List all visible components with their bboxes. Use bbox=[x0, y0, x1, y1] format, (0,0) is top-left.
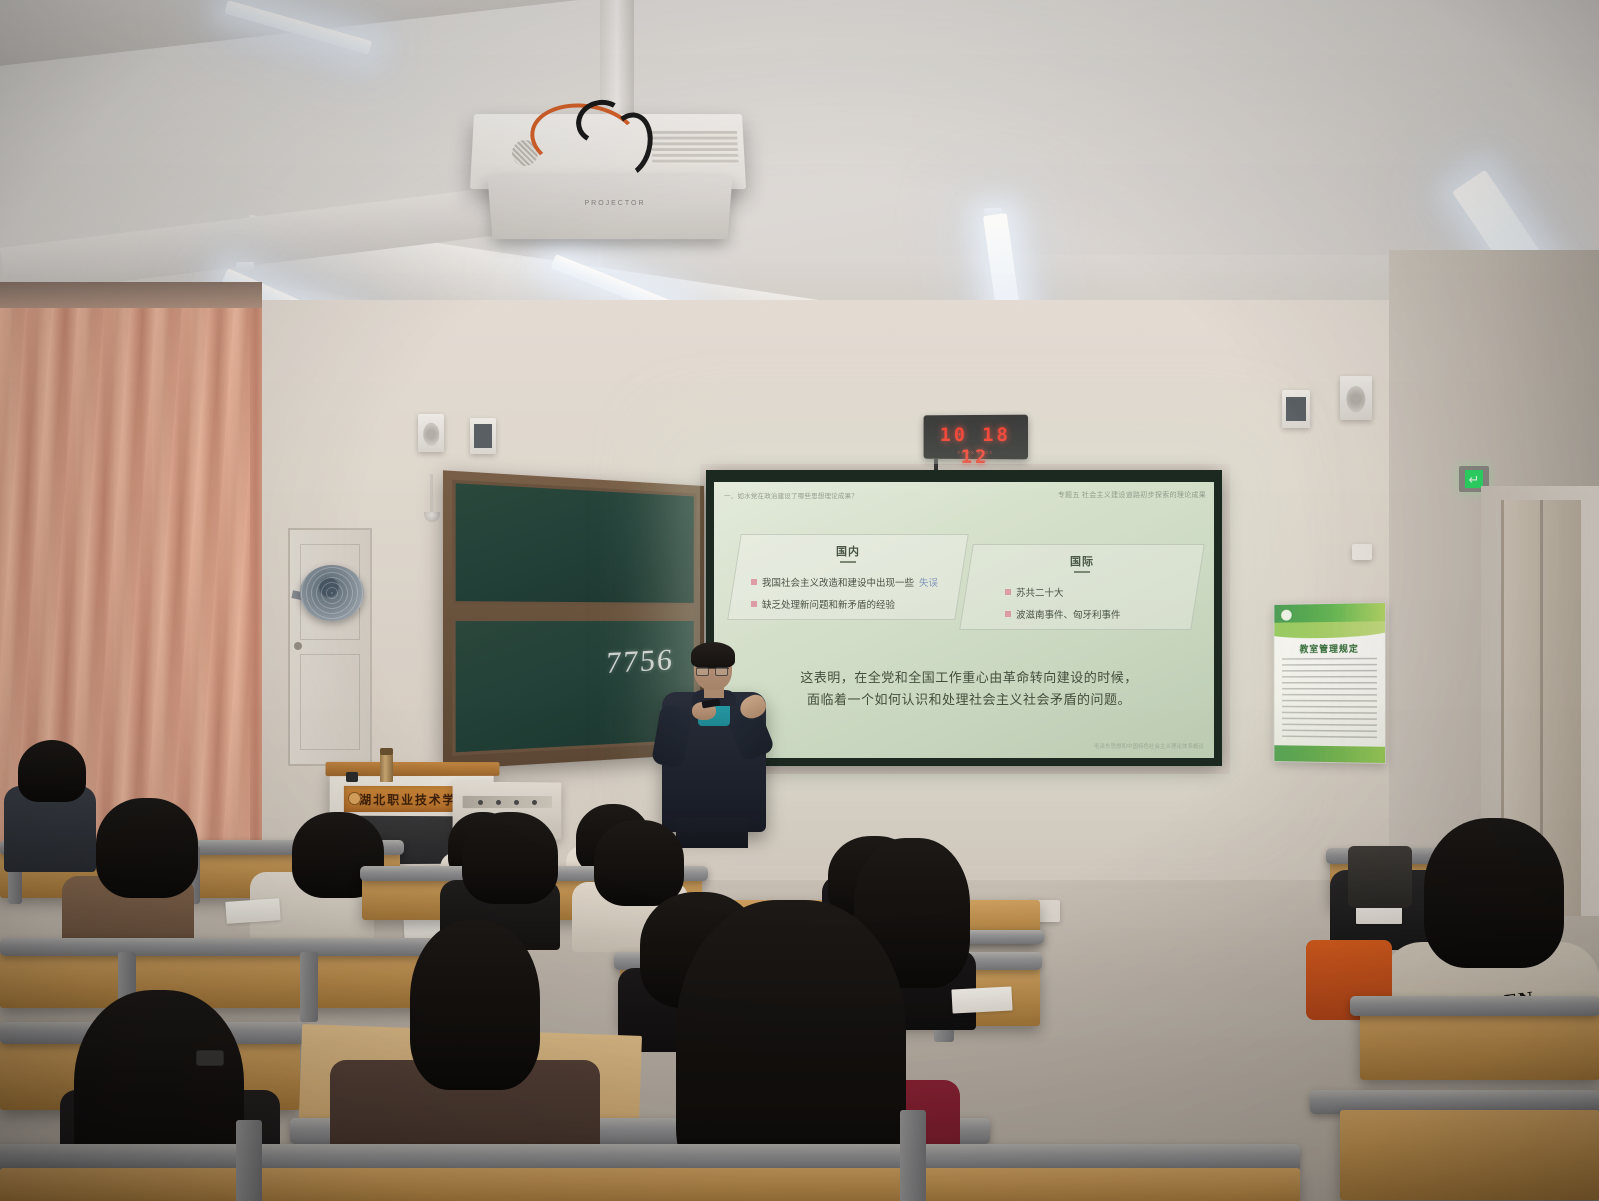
console-button[interactable] bbox=[532, 800, 537, 805]
slide-panel-domestic: 国内 我国社会主义改造和建设中出现一些失误 缺乏处理新问题和新矛盾的经验 bbox=[727, 534, 969, 620]
curtain-rail bbox=[0, 282, 262, 308]
console-button[interactable] bbox=[514, 800, 519, 805]
classroom-scene: PROJECTOR ↵ bbox=[0, 0, 1599, 1201]
slide-caption-line-1: 这表明，在全党和全国工作重心由革命转向建设的时候， bbox=[744, 667, 1194, 689]
student-hair bbox=[96, 798, 198, 898]
student-hair bbox=[410, 920, 540, 1090]
slide-caption-line-2: 面临着一个如何认识和处理社会主义社会矛盾的问题。 bbox=[744, 689, 1194, 711]
student-hair bbox=[462, 812, 558, 904]
projector-brand-label: PROJECTOR bbox=[565, 200, 665, 207]
digital-clock: 10 18 12 XX XX XXXX bbox=[924, 415, 1028, 460]
bench-foreground bbox=[0, 1168, 1300, 1201]
bullet-marker-icon bbox=[751, 601, 757, 607]
poster-body-text bbox=[1282, 658, 1377, 741]
bullet-text: 波滋南事件、匈牙利事件 bbox=[1016, 607, 1121, 621]
poster-wave-decor bbox=[1273, 621, 1386, 639]
thermos-cap bbox=[380, 748, 393, 755]
wall-switch-plate[interactable] bbox=[1352, 544, 1372, 560]
console-button-strip[interactable] bbox=[463, 796, 552, 808]
blackboard-panel-upper bbox=[452, 480, 696, 606]
empty-chair-back bbox=[1348, 846, 1412, 908]
bench-right-front bbox=[1340, 1110, 1599, 1200]
school-seal-icon bbox=[348, 792, 361, 805]
slide-header-right: 专题五 社会主义建设道路初步探索的理论成果 bbox=[1058, 490, 1206, 500]
bullet-text: 苏共二十大 bbox=[1016, 585, 1064, 599]
slide-caption: 这表明，在全党和全国工作重心由革命转向建设的时候， 面临着一个如何认识和处理社会… bbox=[744, 667, 1194, 711]
bullet-highlight: 失误 bbox=[919, 575, 938, 589]
poster-footer-band bbox=[1274, 745, 1385, 763]
teacher-hair bbox=[691, 642, 735, 668]
student-r1-c-glasses bbox=[196, 1050, 224, 1066]
slide-footer: 毛泽东思想和中国特色社会主义理论体系概论 bbox=[1094, 742, 1204, 750]
open-notebook bbox=[225, 898, 280, 924]
panel-underline bbox=[1074, 571, 1090, 573]
wall-box-face bbox=[1286, 397, 1306, 421]
bullet-marker-icon bbox=[1005, 611, 1011, 617]
wall-speaker-left-1 bbox=[418, 414, 444, 452]
slide-surface: 一、如水党在政治建设了哪些思想理论成果？ 专题五 社会主义建设道路初步探索的理论… bbox=[714, 482, 1214, 758]
wall-box-face bbox=[474, 424, 493, 447]
bench-leg-foreground bbox=[900, 1110, 926, 1201]
panel-title-international: 国际 bbox=[967, 553, 1197, 569]
bench-leg-foreground bbox=[236, 1120, 262, 1201]
speaker-cone bbox=[423, 423, 439, 446]
fan-grille-icon bbox=[300, 565, 364, 621]
bullet-international-2: 波滋南事件、匈牙利事件 bbox=[1005, 607, 1121, 621]
slide-panel-international: 国际 苏共二十大 波滋南事件、匈牙利事件 bbox=[959, 544, 1205, 630]
student-hair bbox=[18, 740, 86, 802]
teacher-glasses-right-lens bbox=[715, 667, 728, 676]
wall-control-box-right[interactable] bbox=[1282, 390, 1310, 428]
open-notebook bbox=[951, 986, 1012, 1013]
bullet-international-1: 苏共二十大 bbox=[1005, 585, 1064, 599]
projector-lens-housing bbox=[487, 176, 732, 240]
bullet-marker-icon bbox=[751, 579, 757, 585]
thermos-bottle bbox=[380, 752, 393, 782]
slide-header-left: 一、如水党在政治建设了哪些思想理论成果？ bbox=[724, 490, 858, 500]
bench-rail-row-2 bbox=[0, 938, 476, 956]
desk-object bbox=[346, 772, 358, 782]
student-hair bbox=[594, 820, 684, 906]
bench-row-2 bbox=[0, 952, 470, 1008]
classroom-rules-poster: 教室管理规定 bbox=[1273, 602, 1386, 764]
bullet-domestic-1: 我国社会主义改造和建设中出现一些失误 bbox=[751, 575, 938, 589]
wall-speaker-right-1 bbox=[1340, 376, 1372, 420]
speaker-cone bbox=[1346, 386, 1365, 412]
bullet-domestic-2: 缺乏处理新问题和新矛盾的经验 bbox=[751, 597, 895, 611]
bench-right-lower bbox=[1360, 1010, 1599, 1080]
student-hair bbox=[1424, 818, 1564, 968]
blackboard-chalk-writing: 7756 bbox=[605, 643, 675, 681]
wall-control-box-left[interactable] bbox=[470, 418, 496, 454]
projector-vent-grille bbox=[652, 131, 739, 164]
bullet-marker-icon bbox=[1005, 589, 1011, 595]
console-button[interactable] bbox=[496, 800, 501, 805]
bullet-text: 我国社会主义改造和建设中出现一些 bbox=[762, 575, 914, 589]
clock-time-display: 10 18 12 bbox=[924, 424, 1028, 469]
clock-date-display: XX XX XXXX bbox=[924, 450, 1028, 455]
bench-leg bbox=[300, 952, 318, 1022]
bench-rail-right-lower bbox=[1350, 996, 1599, 1016]
door-handle-left[interactable] bbox=[294, 642, 302, 650]
panel-underline bbox=[840, 561, 856, 563]
teacher-legs bbox=[676, 818, 748, 848]
bullet-text: 缺乏处理新问题和新矛盾的经验 bbox=[762, 597, 895, 611]
door-panel-lower bbox=[300, 654, 360, 750]
camera-mount-arm bbox=[430, 474, 433, 514]
projection-screen: 一、如水党在政治建设了哪些思想理论成果？ 专题五 社会主义建设道路初步探索的理论… bbox=[706, 470, 1222, 766]
panel-title-domestic: 国内 bbox=[735, 543, 961, 559]
poster-title: 教室管理规定 bbox=[1274, 641, 1385, 655]
teacher-glasses-left-lens bbox=[696, 667, 709, 676]
wall-fan[interactable] bbox=[300, 565, 364, 621]
light-fixture-1 bbox=[236, 262, 254, 270]
console-button[interactable] bbox=[478, 800, 483, 805]
